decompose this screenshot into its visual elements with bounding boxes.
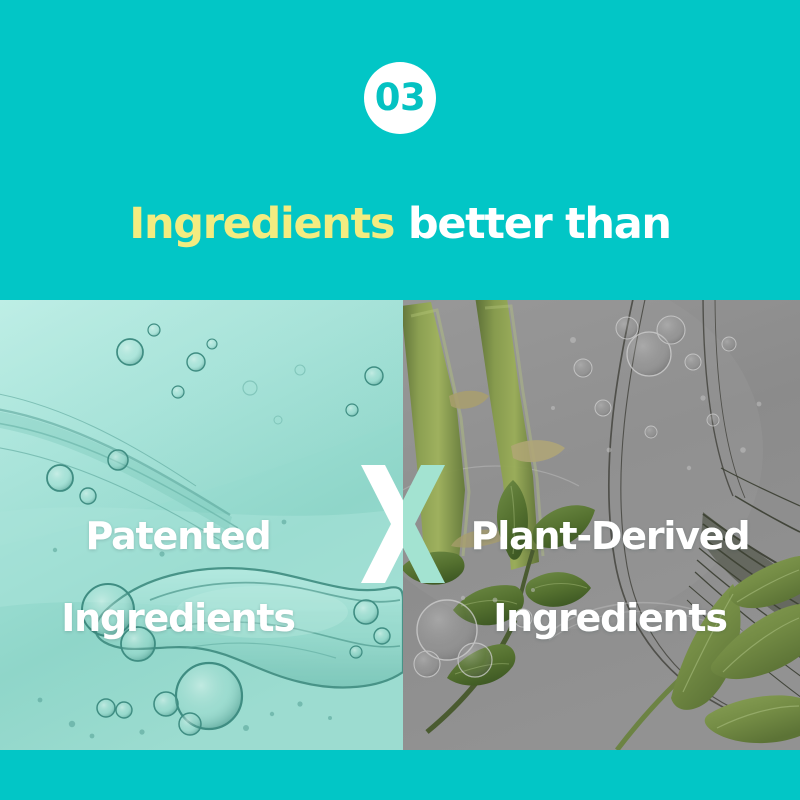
caption-plant-derived-ingredients: Plant-Derived Ingredients bbox=[425, 475, 795, 639]
caption-left-line2: Ingredients bbox=[61, 596, 295, 640]
headline-accent-word: Ingredients bbox=[129, 199, 394, 249]
page-title: Ingredients better than ingredients, bbox=[0, 148, 800, 300]
caption-right-line2: Ingredients bbox=[493, 596, 727, 640]
step-number-text: 03 bbox=[375, 79, 426, 116]
caption-right-line1: Plant-Derived bbox=[471, 514, 750, 558]
caption-patented-ingredients: Patented Ingredients bbox=[0, 475, 356, 639]
step-number-badge: 03 bbox=[364, 62, 436, 134]
footer-band bbox=[0, 750, 800, 800]
ingredients-comparison-section: 03 Ingredients better than ingredients, bbox=[0, 0, 800, 800]
headline-rest: better than bbox=[394, 199, 671, 249]
versus-x-icon bbox=[355, 465, 451, 583]
caption-left-line1: Patented bbox=[85, 514, 270, 558]
header-band: 03 Ingredients better than ingredients, bbox=[0, 0, 800, 300]
comparison-image-strip: Patented Ingredients Plant-Derived Ingre… bbox=[0, 300, 800, 750]
